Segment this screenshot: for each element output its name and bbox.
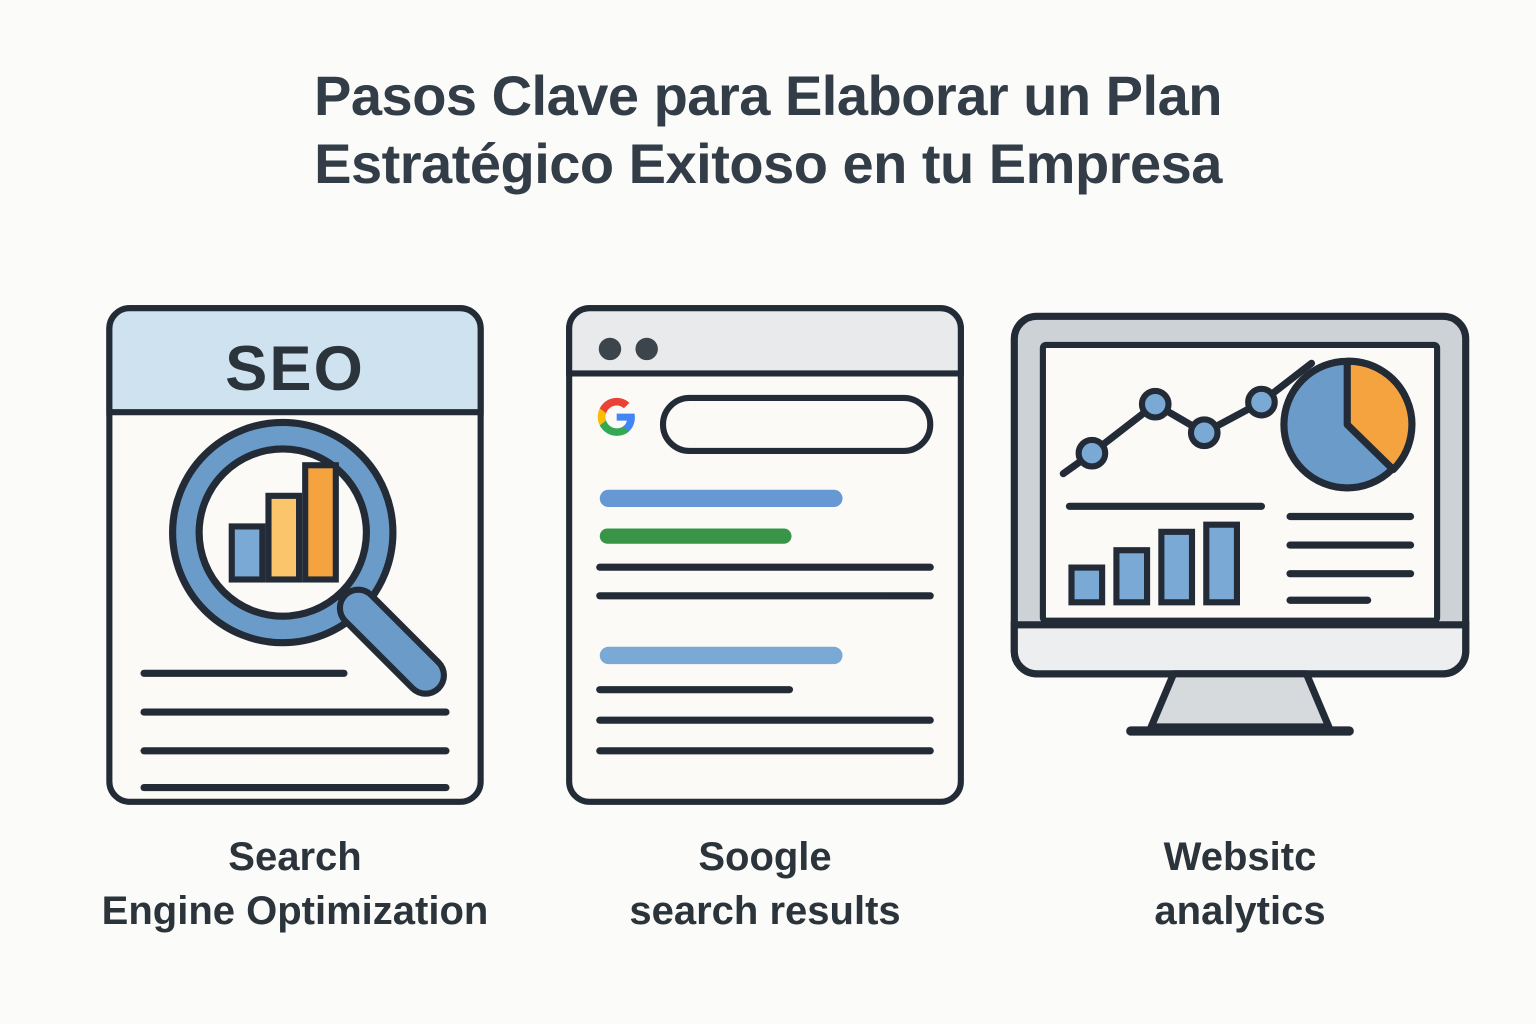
- browser-window-frame: [569, 308, 961, 802]
- result-title-bar: [600, 647, 843, 664]
- bar-3: [1161, 532, 1192, 602]
- bar-3: [305, 465, 336, 579]
- infographic-canvas: Pasos Clave para Elaborar un Plan Estrat…: [0, 0, 1536, 1024]
- bar-1: [1071, 568, 1102, 603]
- columns-container: SEO: [0, 300, 1536, 1000]
- bar-1: [232, 526, 263, 579]
- caption-seo: Search Engine Optimization: [60, 830, 530, 938]
- line-marker-1: [1079, 440, 1106, 467]
- pie-chart: [1284, 361, 1412, 488]
- result-url-bar: [600, 528, 792, 543]
- bar-4: [1206, 525, 1237, 603]
- page-title: Pasos Clave para Elaborar un Plan Estrat…: [0, 62, 1536, 199]
- window-dot-1[interactable]: [599, 338, 621, 360]
- seo-header-label: SEO: [225, 334, 365, 404]
- seo-document-icon: SEO: [60, 300, 530, 810]
- window-dot-2[interactable]: [635, 338, 657, 360]
- monitor-chin: [1014, 625, 1465, 674]
- monitor-stand: [1151, 674, 1329, 727]
- search-input[interactable]: [663, 398, 930, 451]
- caption-website-analytics: Websitc analytics: [1000, 830, 1480, 938]
- line-marker-3: [1191, 419, 1218, 446]
- browser-window-icon: [530, 300, 1000, 810]
- line-marker-4: [1248, 389, 1275, 416]
- desktop-monitor-icon: [1000, 300, 1480, 810]
- bar-2: [268, 496, 299, 580]
- caption-search-results: Soogle search results: [530, 830, 1000, 938]
- browser-title-bar: [569, 308, 961, 373]
- result-title-bar: [600, 490, 843, 507]
- line-marker-2: [1142, 391, 1169, 418]
- bar-2: [1116, 550, 1147, 602]
